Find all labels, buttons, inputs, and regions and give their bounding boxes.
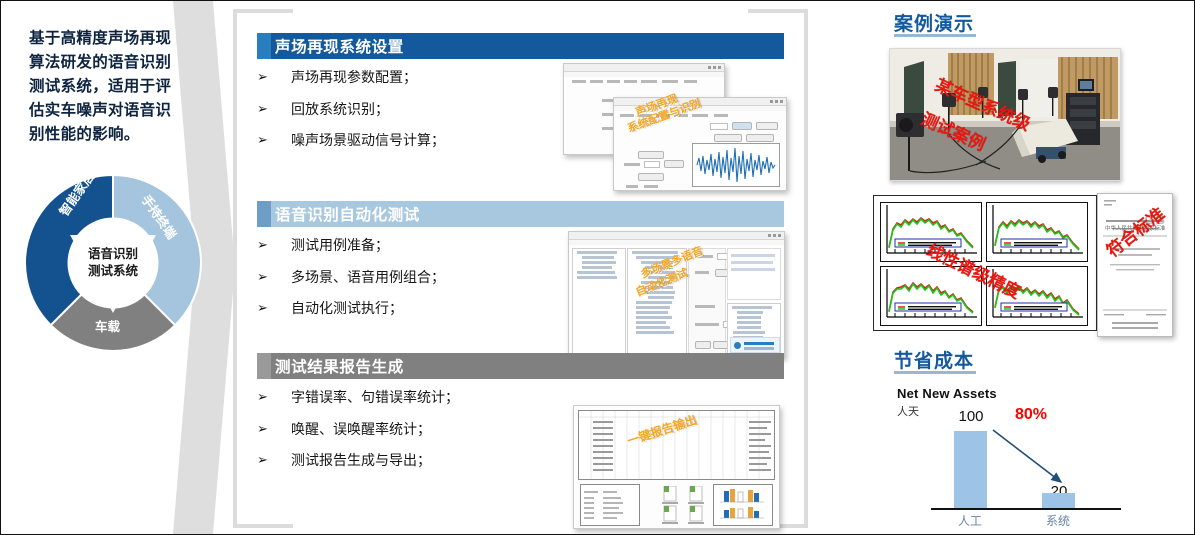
arrow-bullet-icon: ➢ [257, 300, 291, 316]
bar-system [1042, 493, 1075, 508]
lab-photo[interactable]: 某车型系统级 测试案例 [889, 48, 1121, 181]
window-titlebar [564, 64, 724, 72]
window-body [614, 111, 786, 190]
cost-saving-title: 节省成本 [894, 346, 974, 373]
bullet-text: 测试用例准备； [291, 237, 389, 255]
form-panel [688, 248, 726, 354]
report-table-thumb [580, 484, 640, 526]
chart-title: Net New Assets [897, 386, 997, 401]
bullet-text: 回放系统识别； [291, 101, 389, 119]
section-header-1: 语音识别自动化测试 [257, 201, 784, 227]
cost-saving-underline [894, 371, 976, 374]
arrow-bullet-icon: ➢ [257, 101, 291, 117]
section-header-2: 测试结果报告生成 [257, 353, 784, 379]
donut-label-2: 车载 [95, 319, 121, 334]
application-donut-diagram: 智能家居 手持终端 车载 语音识别 测试系统 [23, 173, 203, 353]
bullet-item: ➢ 字错误率、句错误率统计； [257, 389, 784, 407]
spectrum-plots-panel[interactable]: 线性谱级精度 [873, 195, 1097, 331]
donut-svg: 智能家居 手持终端 车载 [23, 173, 203, 353]
section-title-2: 测试结果报告生成 [275, 355, 404, 377]
bullet-text: 噪声场景驱动信号计算； [291, 132, 445, 150]
bar-manual [954, 431, 987, 508]
tree-panel-mid[interactable] [627, 248, 687, 354]
bullet-text: 声场再现参数配置； [291, 69, 417, 87]
bullet-text: 自动化测试执行； [291, 300, 403, 318]
section-title-0: 声场再现系统设置 [275, 35, 404, 57]
header-accent-2 [257, 353, 271, 379]
gb-standard-document[interactable]: GB 中华人民共和国国家标准 符合标准 [1097, 193, 1173, 337]
category-label-1: 系统 [1028, 512, 1088, 529]
spectrum-subplot-2 [986, 202, 1088, 262]
bar-value-0: 100 [941, 408, 1001, 425]
chart-x-axis [931, 508, 1121, 510]
slide-root: 基于高精度声场再现算法研发的语音识别测试系统，适用于评估实车噪声对语音识别性能的… [0, 0, 1195, 535]
right-column: 案例演示 [861, 1, 1195, 534]
arrow-bullet-icon: ➢ [257, 269, 291, 285]
case-demo-underline [894, 34, 976, 37]
window-titlebar [614, 98, 786, 106]
spectrum-subplot-4 [986, 266, 1088, 326]
bullet-text: 字错误率、句错误率统计； [291, 389, 459, 407]
category-label-0: 人工 [940, 512, 1000, 529]
screenshot-report-output[interactable] [573, 405, 780, 529]
arrow-bullet-icon: ➢ [257, 69, 291, 85]
arrow-bullet-icon: ➢ [257, 389, 291, 405]
arrow-bullet-icon: ➢ [257, 452, 291, 468]
screenshot-waveform-window[interactable] [613, 97, 787, 191]
window-body [574, 406, 779, 528]
section-header-0: 声场再现系统设置 [257, 33, 784, 59]
left-column: 基于高精度声场再现算法研发的语音识别测试系统，适用于评估实车噪声对语音识别性能的… [1, 1, 229, 534]
tree-panel-left[interactable] [572, 248, 626, 354]
case-demo-title: 案例演示 [894, 9, 974, 36]
log-panel [727, 248, 781, 300]
spectrum-subplot-1 [880, 202, 982, 262]
spreadsheet-grid[interactable] [578, 410, 775, 480]
exported-file-icons [660, 486, 712, 524]
chart-ylabel: 人天 [897, 403, 919, 419]
gb-subtitle: 中华人民共和国国家标准 [1105, 224, 1165, 232]
bullet-text: 唤醒、误唤醒率统计； [291, 421, 431, 439]
spectrum-subplot-3 [880, 266, 982, 326]
cost-bar-chart: Net New Assets 人天 100 80% 20 人工 系统 [881, 386, 1181, 526]
screenshot-automation-window[interactable] [568, 231, 785, 358]
arrow-bullet-icon: ➢ [257, 132, 291, 148]
bullet-text: 多场景、语音用例组合； [291, 269, 445, 287]
center-panel: 声场再现系统设置 ➢ 声场再现参数配置； ➢ 回放系统识别； ➢ 噪声场景驱动信… [233, 9, 808, 528]
arrow-bullet-icon: ➢ [257, 237, 291, 253]
vendor-logo [730, 337, 780, 353]
report-charts-thumb [713, 484, 773, 526]
bullet-text: 测试报告生成与导出； [291, 452, 431, 470]
window-body [569, 245, 784, 357]
reduction-annotation: 80% [1015, 406, 1047, 424]
intro-paragraph: 基于高精度声场再现算法研发的语音识别测试系统，适用于评估实车噪声对语音识别性能的… [29, 27, 177, 147]
section-title-1: 语音识别自动化测试 [275, 203, 420, 225]
window-titlebar [569, 232, 784, 240]
waveform-plot [692, 143, 780, 187]
arrow-bullet-icon: ➢ [257, 421, 291, 437]
header-accent-0 [257, 33, 271, 59]
header-accent-1 [257, 201, 271, 227]
bracket-top-gap [293, 5, 748, 13]
